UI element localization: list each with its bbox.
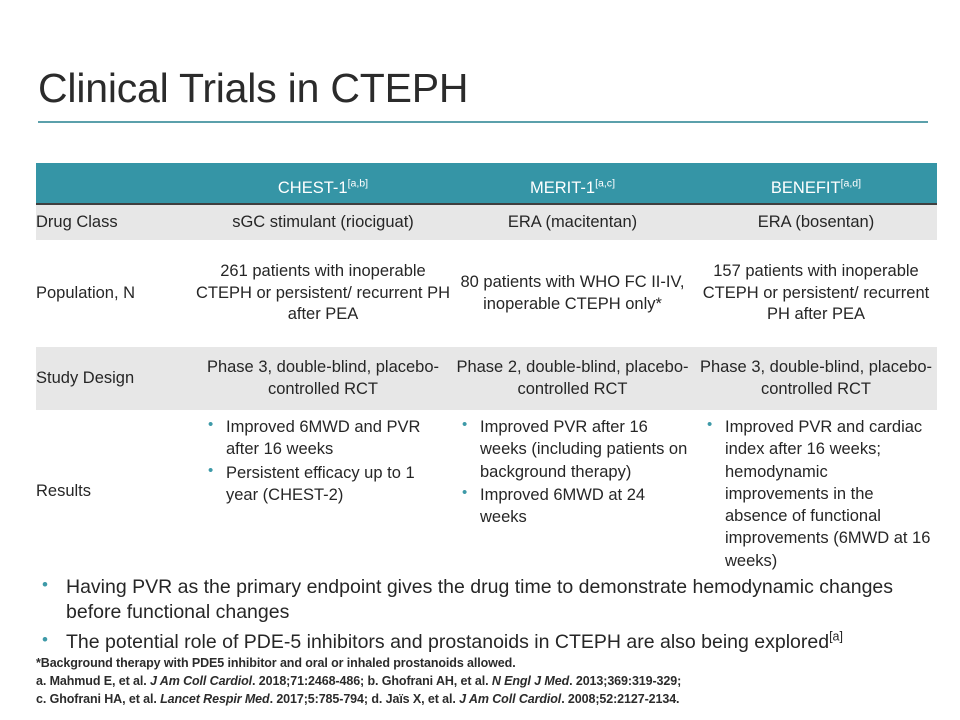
cell-population-benefit: 157 patients with inoperable CTEPH or pe… bbox=[695, 240, 937, 347]
ref-c-prefix: c. Ghofrani HA, et al. bbox=[36, 692, 160, 706]
row-label-drug-class: Drug Class bbox=[36, 205, 196, 240]
list-item: Improved 6MWD and PVR after 16 weeks bbox=[206, 416, 446, 461]
page-title: Clinical Trials in CTEPH bbox=[38, 66, 928, 111]
slide-canvas: Clinical Trials in CTEPH CHEST-1[a,b] ME… bbox=[0, 0, 960, 720]
table-row: Study Design Phase 3, double-blind, plac… bbox=[36, 347, 937, 410]
row-label-results: Results bbox=[36, 410, 196, 573]
key-point-2-citation: [a] bbox=[829, 629, 843, 643]
key-point-2-text: The potential role of PDE-5 inhibitors a… bbox=[66, 631, 829, 653]
ref-d-suffix: . 2008;52:2127-2134. bbox=[561, 692, 679, 706]
title-block: Clinical Trials in CTEPH bbox=[38, 66, 928, 123]
cell-drug-class-benefit: ERA (bosentan) bbox=[695, 205, 937, 240]
results-chest1-list: Improved 6MWD and PVR after 16 weeks Per… bbox=[196, 416, 450, 506]
cell-study-design-chest1: Phase 3, double-blind, placebo-controlle… bbox=[196, 347, 450, 410]
header-benefit-citation: [a,d] bbox=[841, 178, 862, 190]
list-item: The potential role of PDE-5 inhibitors a… bbox=[36, 630, 936, 655]
list-item: Persistent efficacy up to 1 year (CHEST-… bbox=[206, 462, 446, 507]
cell-results-merit1: Improved PVR after 16 weeks (including p… bbox=[450, 410, 695, 573]
ref-c-journal: Lancet Respir Med bbox=[160, 692, 269, 706]
cell-study-design-merit1: Phase 2, double-blind, placebo-controlle… bbox=[450, 347, 695, 410]
cell-results-benefit: Improved PVR and cardiac index after 16 … bbox=[695, 410, 937, 573]
table-header-chest1: CHEST-1[a,b] bbox=[196, 163, 450, 203]
ref-d-prefix: d. Jaïs X, et al. bbox=[371, 692, 459, 706]
ref-d-journal: J Am Coll Cardiol bbox=[459, 692, 561, 706]
header-merit1-citation: [a,c] bbox=[595, 178, 615, 190]
ref-b-prefix: b. Ghofrani AH, et al. bbox=[367, 674, 491, 688]
footnote-references-cd: c. Ghofrani HA, et al. Lancet Respir Med… bbox=[36, 691, 936, 709]
header-chest1-label: CHEST-1 bbox=[278, 179, 348, 197]
header-benefit-label: BENEFIT bbox=[771, 179, 841, 197]
cell-population-chest1: 261 patients with inoperable CTEPH or pe… bbox=[196, 240, 450, 347]
key-point-1-text: Having PVR as the primary endpoint gives… bbox=[66, 576, 893, 623]
ref-a-suffix: . 2018;71:2468-486; bbox=[252, 674, 367, 688]
footnote-asterisk: *Background therapy with PDE5 inhibitor … bbox=[36, 655, 936, 673]
footnotes-block: *Background therapy with PDE5 inhibitor … bbox=[36, 655, 936, 708]
ref-a-journal: J Am Coll Cardiol bbox=[150, 674, 252, 688]
cell-results-chest1: Improved 6MWD and PVR after 16 weeks Per… bbox=[196, 410, 450, 573]
cell-drug-class-chest1: sGC stimulant (riociguat) bbox=[196, 205, 450, 240]
results-benefit-list: Improved PVR and cardiac index after 16 … bbox=[695, 416, 937, 572]
cell-study-design-benefit: Phase 3, double-blind, placebo-controlle… bbox=[695, 347, 937, 410]
title-underline-rule bbox=[38, 121, 928, 123]
list-item: Improved 6MWD at 24 weeks bbox=[460, 484, 691, 529]
row-label-population: Population, N bbox=[36, 240, 196, 347]
ref-b-suffix: . 2013;369:319-329; bbox=[569, 674, 681, 688]
row-label-study-design: Study Design bbox=[36, 347, 196, 410]
header-merit1-label: MERIT-1 bbox=[530, 179, 595, 197]
table-header-blank bbox=[36, 163, 196, 203]
key-points-block: Having PVR as the primary endpoint gives… bbox=[36, 575, 936, 659]
list-item: Improved PVR after 16 weeks (including p… bbox=[460, 416, 691, 483]
cell-drug-class-merit1: ERA (macitentan) bbox=[450, 205, 695, 240]
table-row: Results Improved 6MWD and PVR after 16 w… bbox=[36, 410, 937, 573]
footnote-references-ab: a. Mahmud E, et al. J Am Coll Cardiol. 2… bbox=[36, 673, 936, 691]
header-chest1-citation: [a,b] bbox=[348, 178, 369, 190]
key-points-list: Having PVR as the primary endpoint gives… bbox=[36, 575, 936, 655]
table-header-merit1: MERIT-1[a,c] bbox=[450, 163, 695, 203]
table-header-benefit: BENEFIT[a,d] bbox=[695, 163, 937, 203]
table-header-row: CHEST-1[a,b] MERIT-1[a,c] BENEFIT[a,d] bbox=[36, 163, 937, 203]
table-row: Population, N 261 patients with inoperab… bbox=[36, 240, 937, 347]
clinical-trials-table: CHEST-1[a,b] MERIT-1[a,c] BENEFIT[a,d] D… bbox=[36, 163, 937, 573]
table-row: Drug Class sGC stimulant (riociguat) ERA… bbox=[36, 205, 937, 240]
ref-b-journal: N Engl J Med bbox=[492, 674, 569, 688]
ref-a-prefix: a. Mahmud E, et al. bbox=[36, 674, 150, 688]
cell-population-merit1: 80 patients with WHO FC II-IV, inoperabl… bbox=[450, 240, 695, 347]
results-merit1-list: Improved PVR after 16 weeks (including p… bbox=[450, 416, 695, 528]
ref-c-suffix: . 2017;5:785-794; bbox=[270, 692, 372, 706]
list-item: Having PVR as the primary endpoint gives… bbox=[36, 575, 936, 626]
list-item: Improved PVR and cardiac index after 16 … bbox=[705, 416, 933, 572]
